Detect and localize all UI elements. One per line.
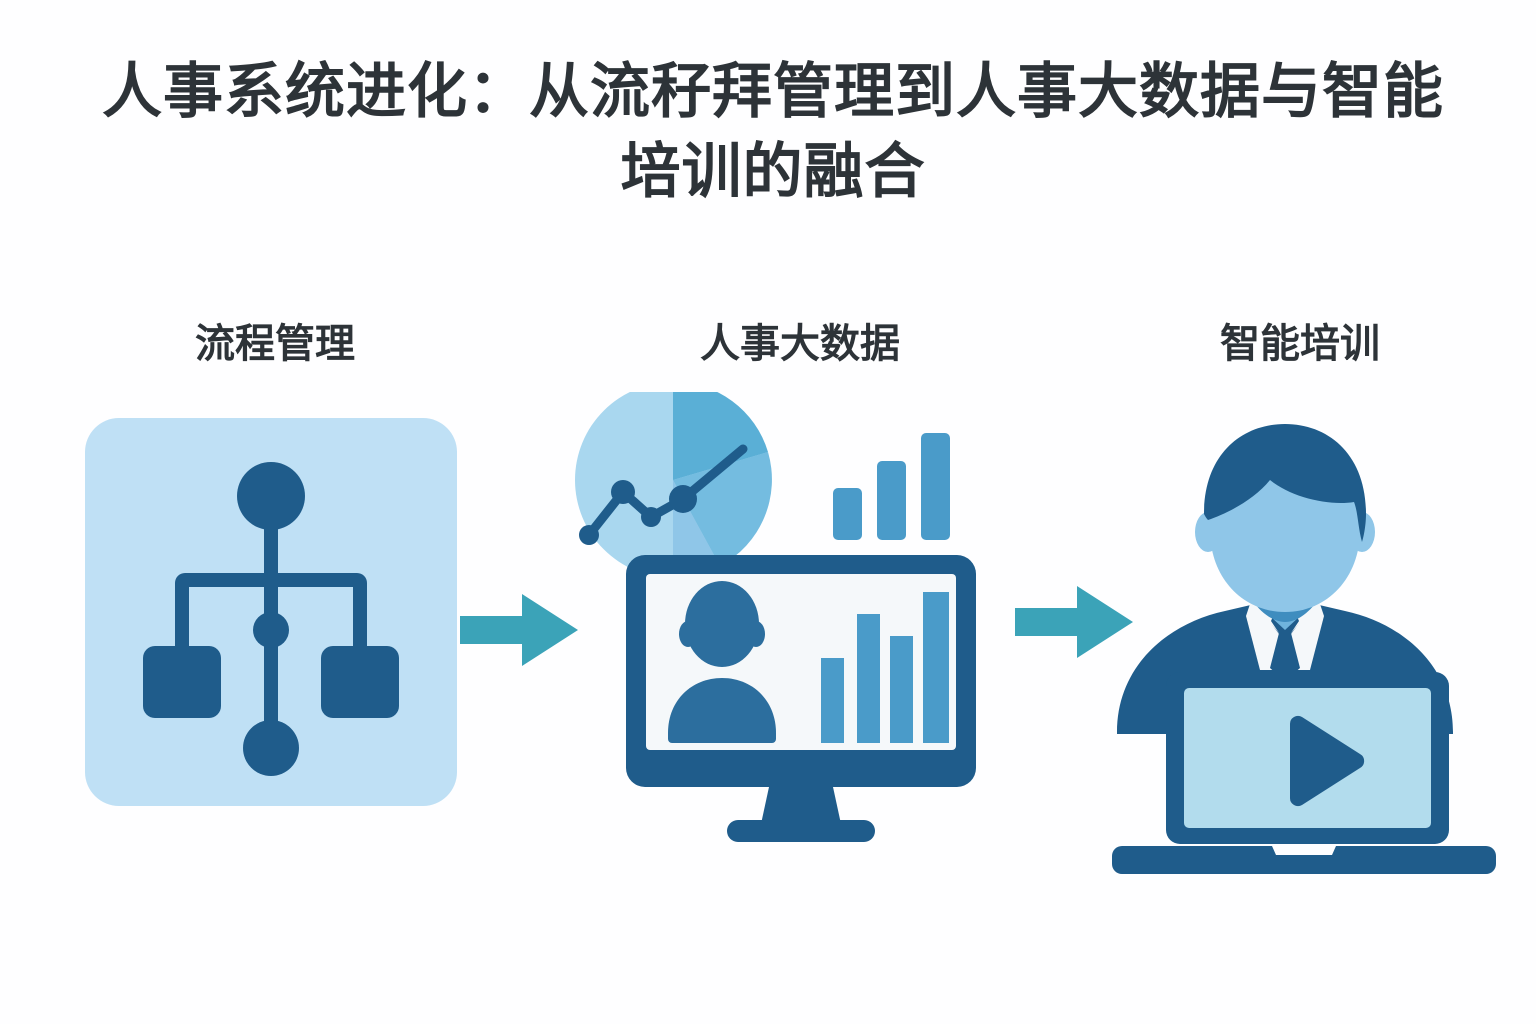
avatar-ear-right [747, 621, 765, 647]
stage-label-intelligent-training: 智能培训 [1110, 318, 1490, 370]
trend-line-marker [669, 485, 697, 513]
trend-line-marker [611, 480, 635, 504]
bar-screen-1 [821, 658, 844, 743]
infographic-canvas: 人事系统进化：从流秄拜管理到人事大数据与智能 培训的融合 流程管理 人事大数据 … [0, 0, 1536, 1024]
title-line-1: 人事系统进化：从流秄拜管理到人事大数据与智能 [0, 52, 1536, 132]
bar-above-2 [877, 461, 906, 540]
bar-chart-above-monitor [833, 433, 950, 540]
stage-label-hr-big-data: 人事大数据 [600, 318, 1000, 370]
bar-above-3 [921, 433, 950, 540]
flowchart-bottom-node [243, 720, 299, 776]
monitor-neck [761, 787, 841, 824]
avatar-head [685, 581, 759, 667]
flowchart-middle-node [253, 612, 289, 648]
bar-screen-2 [857, 614, 880, 743]
right-arrow-icon [460, 594, 578, 666]
trend-line-marker [579, 525, 599, 545]
e-learning-person-icon [1100, 402, 1500, 880]
flowchart-icon [85, 418, 457, 806]
bar-screen-4 [923, 592, 949, 743]
title-line-2: 培训的融合 [0, 132, 1536, 212]
arrow-process-to-data [460, 590, 580, 670]
stage-label-process-management: 流程管理 [95, 318, 455, 370]
bar-above-1 [833, 488, 862, 540]
flowchart-right-box [321, 646, 399, 718]
pie-chart [575, 392, 772, 578]
avatar-ear-left [679, 621, 697, 647]
page-title: 人事系统进化：从流秄拜管理到人事大数据与智能 培训的融合 [0, 52, 1536, 212]
laptop-base [1112, 846, 1496, 874]
analytics-dashboard-icon [570, 392, 990, 852]
flowchart-left-box [143, 646, 221, 718]
bar-screen-3 [890, 636, 913, 743]
laptop [1112, 672, 1496, 874]
monitor-base [727, 820, 875, 842]
trend-line-marker [641, 507, 661, 527]
flowchart-root-node [237, 462, 305, 530]
